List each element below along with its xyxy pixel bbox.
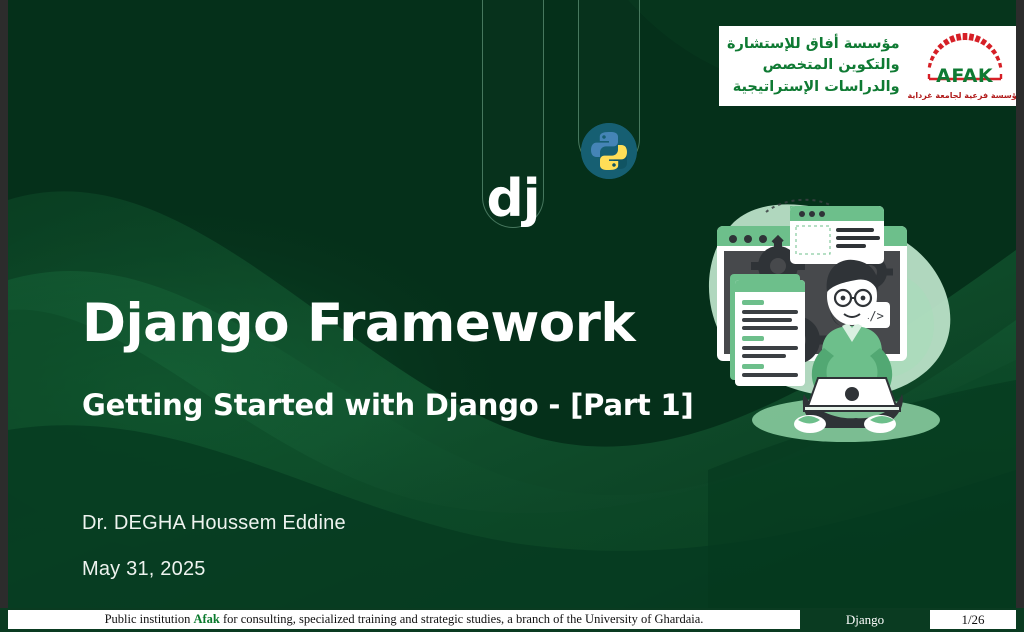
- afak-arabic-line-3: والدراسات الإستراتيجية: [727, 77, 900, 98]
- footer-page-indicator: 1/26: [930, 610, 1016, 629]
- developer-illustration-svg: </>: [674, 162, 1016, 462]
- page-title: Django Framework: [82, 296, 702, 352]
- right-edge-border: [1016, 0, 1024, 608]
- django-logo-icon: dj: [482, 168, 544, 230]
- footer-section-bar: Django: [800, 610, 930, 629]
- python-logo-svg: [581, 123, 637, 179]
- document-card: [730, 274, 805, 386]
- footer-institution-bar: Public institution Afak for consulting, …: [8, 610, 800, 629]
- afak-arabic-subtitle: مؤسسة فرعية لجامعة غرداية: [906, 91, 1016, 100]
- laptop: [804, 378, 900, 411]
- left-edge-border: [0, 0, 8, 608]
- developer-illustration: </>: [674, 162, 1016, 462]
- python-logo-icon: [581, 123, 637, 179]
- afak-wordmark: AFAK: [906, 65, 1016, 87]
- slide-root: dj مؤسسة أفاق للإستشارة والتكوين المتخصص…: [0, 0, 1024, 632]
- slide-canvas: dj مؤسسة أفاق للإستشارة والتكوين المتخصص…: [8, 0, 1016, 608]
- browser-window-front: [790, 206, 884, 266]
- afak-arabic-line-2: والتكوين المتخصص: [727, 55, 900, 76]
- footer-institution-prefix: Public institution: [105, 612, 194, 626]
- footer-institution-suffix: for consulting, specialized training and…: [220, 612, 704, 626]
- footer-institution-text: Public institution Afak for consulting, …: [105, 612, 704, 627]
- page-subtitle: Getting Started with Django - [Part 1]: [82, 388, 702, 422]
- author-name: Dr. DEGHA Houssem Eddine: [82, 512, 346, 535]
- presenter-meta: Dr. DEGHA Houssem Eddine May 31, 2025: [82, 512, 346, 581]
- footer-section-label: Django: [846, 612, 884, 628]
- afak-sunburst-emblem: AFAK مؤسسة فرعية لجامعة غرداية: [906, 27, 1016, 105]
- afak-arabic-text: مؤسسة أفاق للإستشارة والتكوين المتخصص وا…: [719, 32, 906, 99]
- title-block: Django Framework Getting Started with Dj…: [82, 296, 702, 422]
- presentation-date: May 31, 2025: [82, 558, 346, 581]
- slide-footer: Public institution Afak for consulting, …: [0, 608, 1024, 632]
- afak-arabic-line-1: مؤسسة أفاق للإستشارة: [727, 34, 900, 55]
- footer-institution-brand: Afak: [193, 612, 219, 626]
- footer-page-number: 1/26: [961, 612, 984, 628]
- afak-logo-card: مؤسسة أفاق للإستشارة والتكوين المتخصص وا…: [719, 26, 1016, 106]
